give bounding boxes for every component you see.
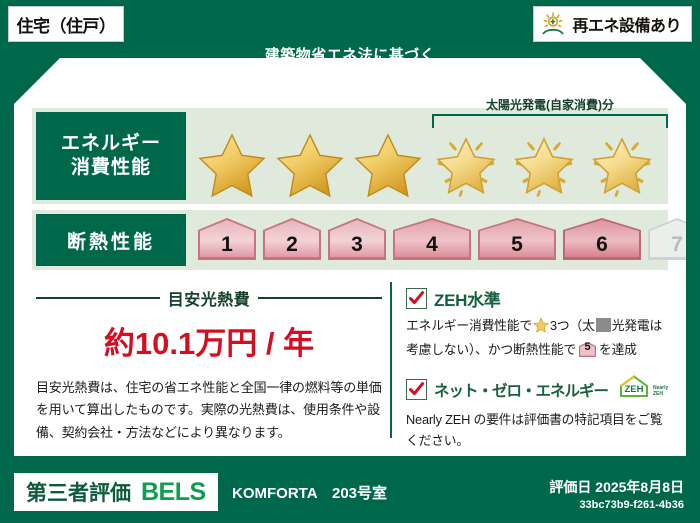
insulation-level-inline-house: 5 [578,341,597,358]
evaluation-date-label: 評価日 [549,479,591,495]
zeh-desc-part1: エネルギー消費性能で [406,318,532,333]
utility-cost-block: 目安光熱費 約10.1万円 / 年 目安光熱費は、住宅の省エネ性能と全国一律の燃… [36,286,382,444]
utility-cost-heading: 目安光熱費 [36,286,382,310]
label-panel: エネルギー 消費性能 太陽光発電(自家消費)分 [14,58,686,456]
zeh-standard-item: ZEH水準 エネルギー消費性能で3つ（太光発電は考慮しない）、かつ断熱性能で5を… [406,286,674,360]
category-tag: 住宅（住戸） [8,6,124,42]
energy-label-line1: エネルギー [61,132,161,156]
zeh-desc-part4: を達成 [599,342,637,357]
third-party-label: 第三者評価 [26,477,131,507]
net-zero-energy-header: ネット・ゼロ・エネルギー ZEH Nearly ZEH [406,374,674,405]
svg-text:ZEH: ZEH [625,384,644,395]
zeh-house-logo: ZEH Nearly ZEH [617,374,673,405]
star-solar [506,128,582,200]
net-zero-energy-description: Nearly ZEH の要件は評価書の特記項目をご覧ください。 [406,410,674,451]
net-zero-energy-title: ネット・ゼロ・エネルギー [434,379,608,401]
energy-performance-label: エネルギー 消費性能 [36,112,186,200]
evaluation-date: 評価日 2025年8月8日 [549,477,684,497]
star-solar [584,128,660,200]
bels-energy-label: 住宅（住戸） 再エネ設備あり 建築物省エネ法に基づく 省エネ性能 [0,0,700,523]
redacted-block [596,318,611,332]
evaluation-info: 評価日 2025年8月8日 33bc73b9-f261-4b36 [549,477,684,511]
property-unit-name: KOMFORTA 203号室 [232,482,387,503]
star-solar [428,128,504,200]
insulation-level-number: 3 [326,233,388,257]
rule-right [258,297,382,299]
insulation-level-number: 6 [561,233,643,257]
check-icon [406,379,427,400]
insulation-level-house: 4 [391,216,473,262]
insulation-level-house: 2 [261,216,323,262]
performance-table: エネルギー 消費性能 太陽光発電(自家消費)分 [32,108,668,276]
insulation-level-house: 5 [476,216,558,262]
svg-text:ZEH: ZEH [653,391,663,397]
zeh-standard-header: ZEH水準 [406,286,674,311]
star-rating: 太陽光発電(自家消費)分 [194,128,662,200]
section-divider [390,282,392,438]
star-solid [194,128,270,200]
insulation-performance-value: 1 [186,210,668,270]
insulation-performance-label: 断熱性能 [36,214,186,266]
utility-cost-note: 目安光熱費は、住宅の省エネ性能と全国一律の燃料等の単価を用いて算出したものです。… [36,377,382,444]
bels-footer-badge: 第三者評価 BELS [14,473,218,511]
zeh-standard-title: ZEH水準 [434,286,501,311]
evaluation-id: 33bc73b9-f261-4b36 [549,499,684,511]
energy-performance-row: エネルギー 消費性能 太陽光発電(自家消費)分 [32,108,668,204]
solar-bracket [432,114,668,128]
insulation-level-house: 3 [326,216,388,262]
star-icon [533,317,549,340]
star-solid [350,128,426,200]
evaluation-date-value: 2025年8月8日 [595,479,684,495]
star-solid [272,128,348,200]
insulation-level-number: 5 [476,233,558,257]
insulation-level-number: 1 [196,233,258,257]
net-zero-energy-item: ネット・ゼロ・エネルギー ZEH Nearly ZEH Nearly ZEH の… [406,374,674,451]
zeh-desc-part2: 3つ（太 [550,318,595,333]
sun-icon [540,12,566,36]
insulation-level-number: 4 [391,233,473,257]
zeh-standard-description: エネルギー消費性能で3つ（太光発電は考慮しない）、かつ断熱性能で5を達成 [406,316,674,360]
insulation-level-number: 2 [261,233,323,257]
energy-label-line2: 消費性能 [71,156,151,180]
check-icon [406,288,427,309]
utility-cost-value: 約10.1万円 / 年 [36,318,382,363]
energy-performance-value: 太陽光発電(自家消費)分 [186,108,668,204]
star-row [194,128,660,200]
insulation-level-house-inactive: 7 [646,216,700,262]
zeh-block: ZEH水準 エネルギー消費性能で3つ（太光発電は考慮しない）、かつ断熱性能で5を… [406,286,674,466]
utility-cost-title: 目安光熱費 [168,286,251,310]
renewable-energy-badge: 再エネ設備あり [533,6,692,42]
page-title: 省エネ性能ラベル [0,62,700,106]
insulation-level-house: 1 [196,216,258,262]
insulation-level-row: 1 [196,216,700,262]
insulation-level-house: 6 [561,216,643,262]
inline-house-number: 5 [578,339,597,357]
renewable-badge-label: 再エネ設備あり [572,12,681,36]
rule-left [36,297,160,299]
bels-wordmark: BELS [141,478,206,507]
insulation-level-number: 7 [646,233,700,257]
insulation-performance-row: 断熱性能 [32,210,668,270]
